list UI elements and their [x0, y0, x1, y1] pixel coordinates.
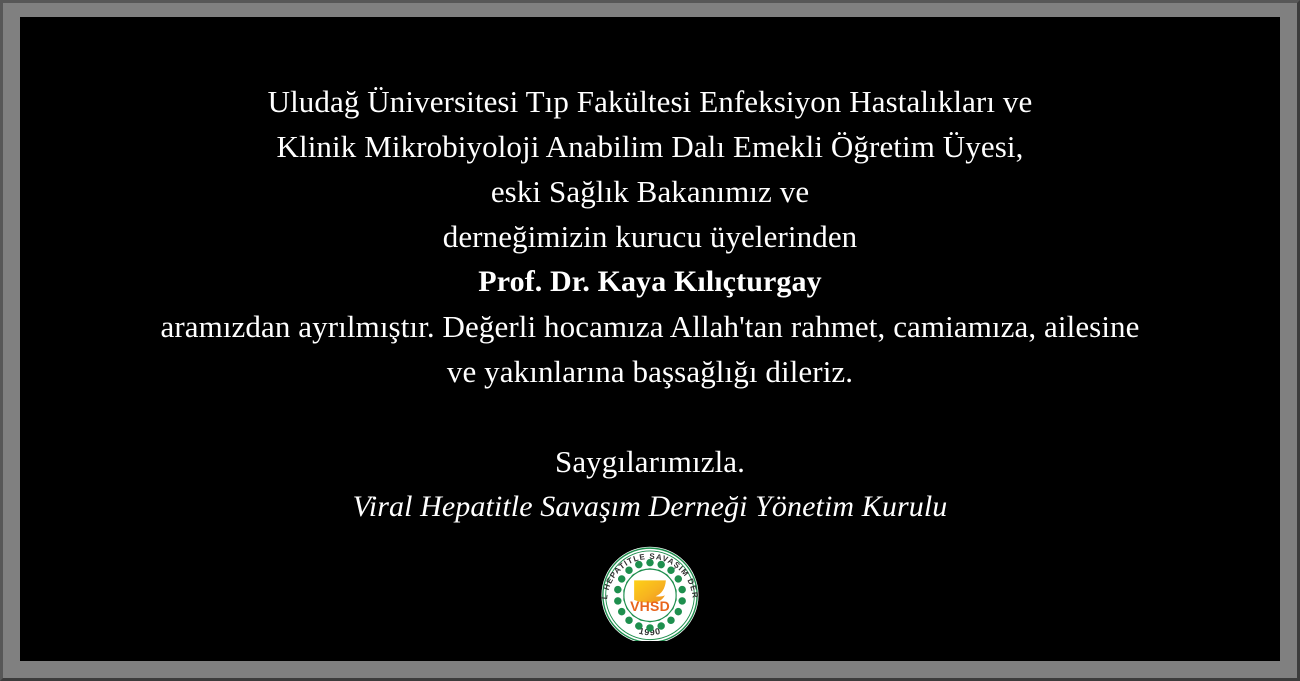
announcement-content: Uludağ Üniversitesi Tıp Fakültesi Enfeks…: [20, 17, 1280, 641]
announcement-line: ve yakınlarına başsağlığı dileriz.: [20, 349, 1280, 394]
seal-monogram: VHSD: [630, 598, 670, 614]
announcement-line: derneğimizin kurucu üyelerinden: [20, 214, 1280, 259]
slide-frame: Uludağ Üniversitesi Tıp Fakültesi Enfeks…: [0, 0, 1300, 681]
announcement-text-block: Uludağ Üniversitesi Tıp Fakültesi Enfeks…: [20, 17, 1280, 529]
logo-container: VİRAL HEPATİTLE SAVAŞIM DERNEĞİ 1990: [20, 543, 1280, 641]
line-spacer: [20, 394, 1280, 439]
closing-salutation: Saygılarımızla.: [20, 439, 1280, 484]
announcement-line: aramızdan ayrılmıştır. Değerli hocamıza …: [20, 304, 1280, 349]
signature-organization: Viral Hepatitle Savaşım Derneği Yönetim …: [20, 484, 1280, 529]
announcement-line: Uludağ Üniversitesi Tıp Fakültesi Enfeks…: [20, 79, 1280, 124]
announcement-line: eski Sağlık Bakanımız ve: [20, 169, 1280, 214]
honoree-name: Prof. Dr. Kaya Kılıçturgay: [20, 259, 1280, 304]
announcement-line: Klinik Mikrobiyoloji Anabilim Dalı Emekl…: [20, 124, 1280, 169]
vhsd-seal-icon: VİRAL HEPATİTLE SAVAŞIM DERNEĞİ 1990: [594, 543, 706, 641]
slide-canvas: Uludağ Üniversitesi Tıp Fakültesi Enfeks…: [20, 17, 1280, 661]
